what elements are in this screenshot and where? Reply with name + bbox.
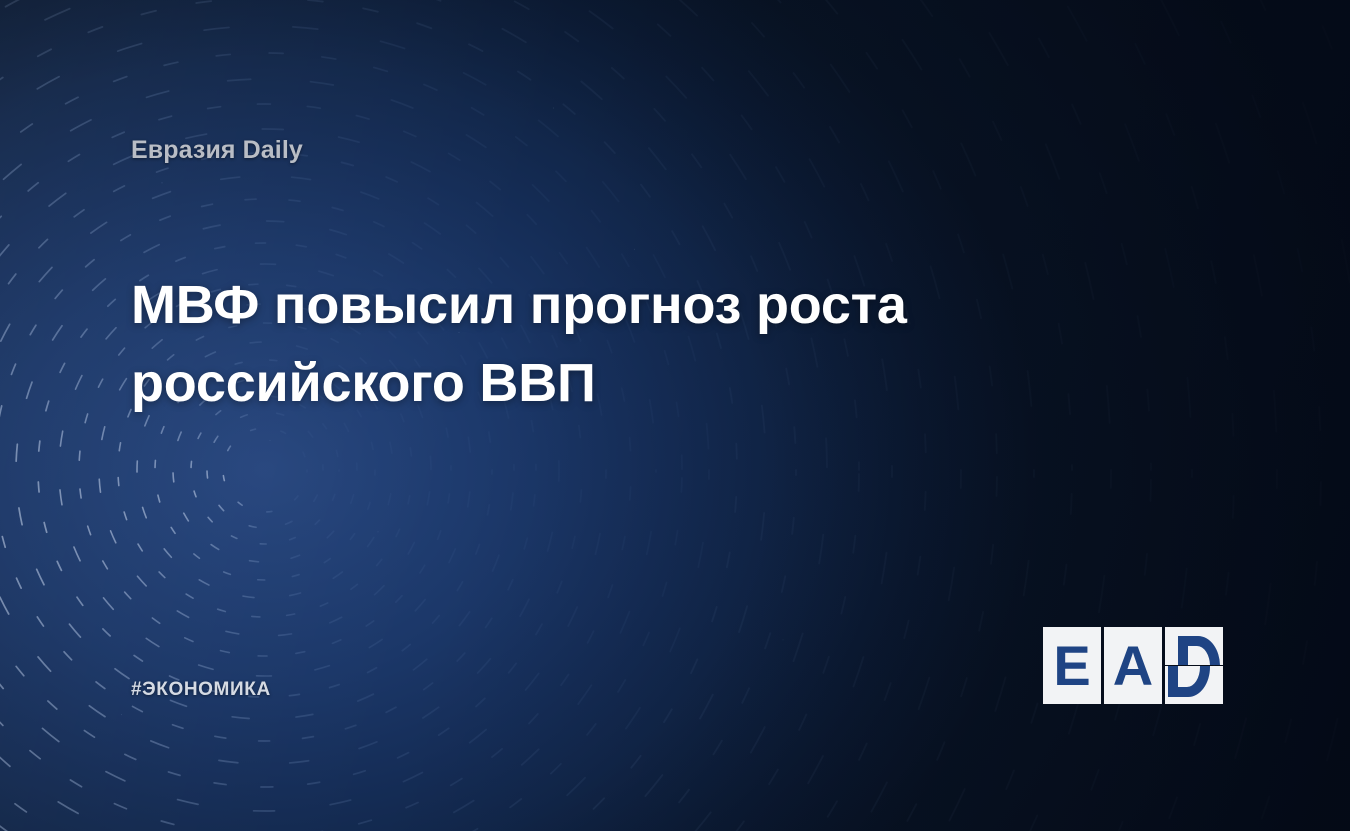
logo-letter-a: A: [1104, 627, 1162, 704]
logo-tile-d-split: [1165, 627, 1223, 704]
logo-letter-d-bottom-half: [1165, 666, 1223, 704]
category-tag: #ЭКОНОМИКА: [131, 679, 271, 701]
logo-tile-a: A: [1104, 627, 1162, 704]
ead-logo: E A: [1043, 627, 1223, 704]
logo-letter-d-top-half: [1165, 627, 1223, 665]
site-name: Евразия Daily: [131, 136, 303, 165]
page-title: МВФ повысил прогноз роста российского ВВ…: [131, 266, 991, 422]
news-share-card: Евразия Daily МВФ повысил прогноз роста …: [0, 0, 1350, 831]
logo-letter-e: E: [1043, 627, 1101, 704]
logo-tile-e: E: [1043, 627, 1101, 704]
